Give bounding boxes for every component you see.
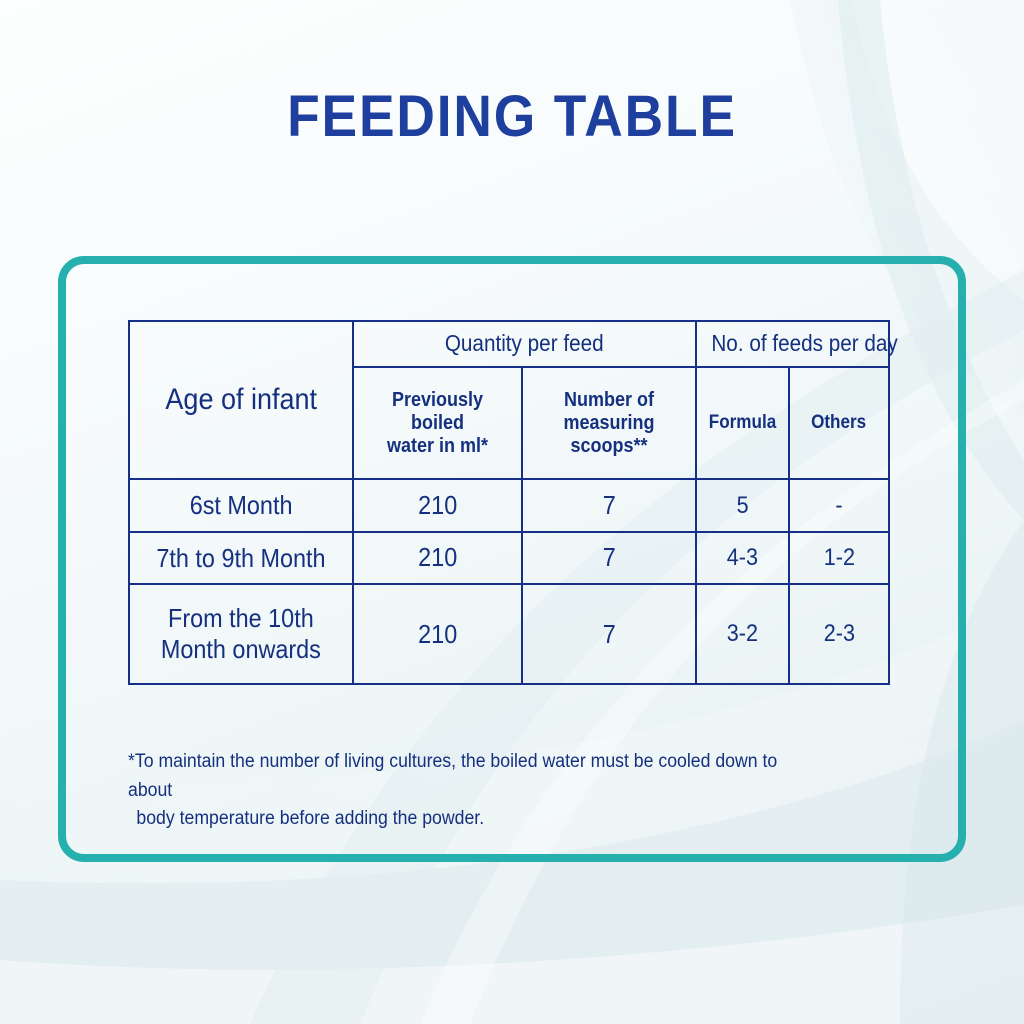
feeding-table-infographic: FEEDING TABLE Age of infant Quantity per — [0, 0, 1024, 1024]
cell-age-1: 7th to 9th Month — [129, 532, 353, 584]
header-label-water: Previously boiled water in ml* — [366, 389, 509, 458]
cell-scoops-2: 7 — [522, 584, 696, 684]
header-cell-water: Previously boiled water in ml* — [353, 367, 522, 479]
cell-water-value-0: 210 — [418, 490, 457, 521]
cell-others-value-0: - — [835, 492, 842, 520]
table-row: From the 10th Month onwards 210 7 3-2 — [129, 584, 889, 684]
cell-water-1: 210 — [353, 532, 522, 584]
header-label-others: Others — [811, 412, 866, 434]
header-cell-feeds-group: No. of feeds per day — [696, 321, 889, 367]
header-cell-others: Others — [789, 367, 889, 479]
cell-age-label-2: From the 10th Month onwards — [161, 603, 321, 664]
cell-water-2: 210 — [353, 584, 522, 684]
cell-age-0: 6st Month — [129, 479, 353, 531]
cell-others-1: 1-2 — [789, 532, 889, 584]
cell-age-label-2-line2: Month onwards — [161, 634, 321, 664]
header-label-quantity-group: Quantity per feed — [445, 330, 604, 357]
cell-formula-value-2: 3-2 — [727, 620, 758, 648]
cell-others-value-2: 2-3 — [823, 620, 854, 648]
header-cell-age: Age of infant — [129, 321, 353, 479]
cell-scoops-0: 7 — [522, 479, 696, 531]
cell-formula-value-0: 5 — [736, 492, 748, 520]
cell-scoops-value-2: 7 — [602, 619, 615, 650]
cell-scoops-value-1: 7 — [602, 542, 615, 573]
feeding-table: Age of infant Quantity per feed No. of f… — [128, 320, 890, 685]
cell-water-value-1: 210 — [418, 542, 457, 573]
header-label-age: Age of infant — [165, 383, 317, 417]
cell-age-label-2-line1: From the 10th — [168, 603, 314, 633]
cell-formula-2: 3-2 — [696, 584, 789, 684]
cell-formula-0: 5 — [696, 479, 789, 531]
cell-scoops-1: 7 — [522, 532, 696, 584]
header-cell-scoops: Number of measuring scoops** — [522, 367, 696, 479]
cell-formula-1: 4-3 — [696, 532, 789, 584]
table-header-row-groups: Age of infant Quantity per feed No. of f… — [129, 321, 889, 367]
cell-water-value-2: 210 — [418, 619, 457, 650]
cell-water-0: 210 — [353, 479, 522, 531]
header-label-scoops-line2: measuring scoops** — [563, 412, 654, 457]
cell-formula-value-1: 4-3 — [727, 544, 758, 572]
header-cell-quantity-group: Quantity per feed — [353, 321, 696, 367]
header-label-scoops-line1: Number of — [564, 389, 654, 411]
table-row: 7th to 9th Month 210 7 4-3 1-2 — [129, 532, 889, 584]
cell-others-2: 2-3 — [789, 584, 889, 684]
cell-others-value-1: 1-2 — [823, 544, 854, 572]
header-label-scoops: Number of measuring scoops** — [535, 389, 683, 458]
header-label-water-line1: Previously boiled — [392, 389, 483, 434]
header-label-water-line2: water in ml* — [387, 435, 488, 457]
page-title: FEEDING TABLE — [41, 88, 983, 146]
cell-scoops-value-0: 7 — [602, 490, 615, 521]
cell-others-0: - — [789, 479, 889, 531]
header-cell-formula: Formula — [696, 367, 789, 479]
table-row: 6st Month 210 7 5 - — [129, 479, 889, 531]
header-label-formula: Formula — [709, 412, 776, 434]
footnote: *To maintain the number of living cultur… — [128, 748, 798, 834]
header-label-feeds-group: No. of feeds per day — [711, 330, 897, 357]
footnote-line-2: body temperature before adding the powde… — [128, 805, 798, 834]
cell-age-label-1: 7th to 9th Month — [156, 543, 325, 574]
footnote-line-1: *To maintain the number of living cultur… — [128, 751, 777, 801]
cell-age-label-0: 6st Month — [190, 490, 293, 521]
feeding-table-container: Age of infant Quantity per feed No. of f… — [128, 320, 890, 685]
cell-age-2: From the 10th Month onwards — [129, 584, 353, 684]
